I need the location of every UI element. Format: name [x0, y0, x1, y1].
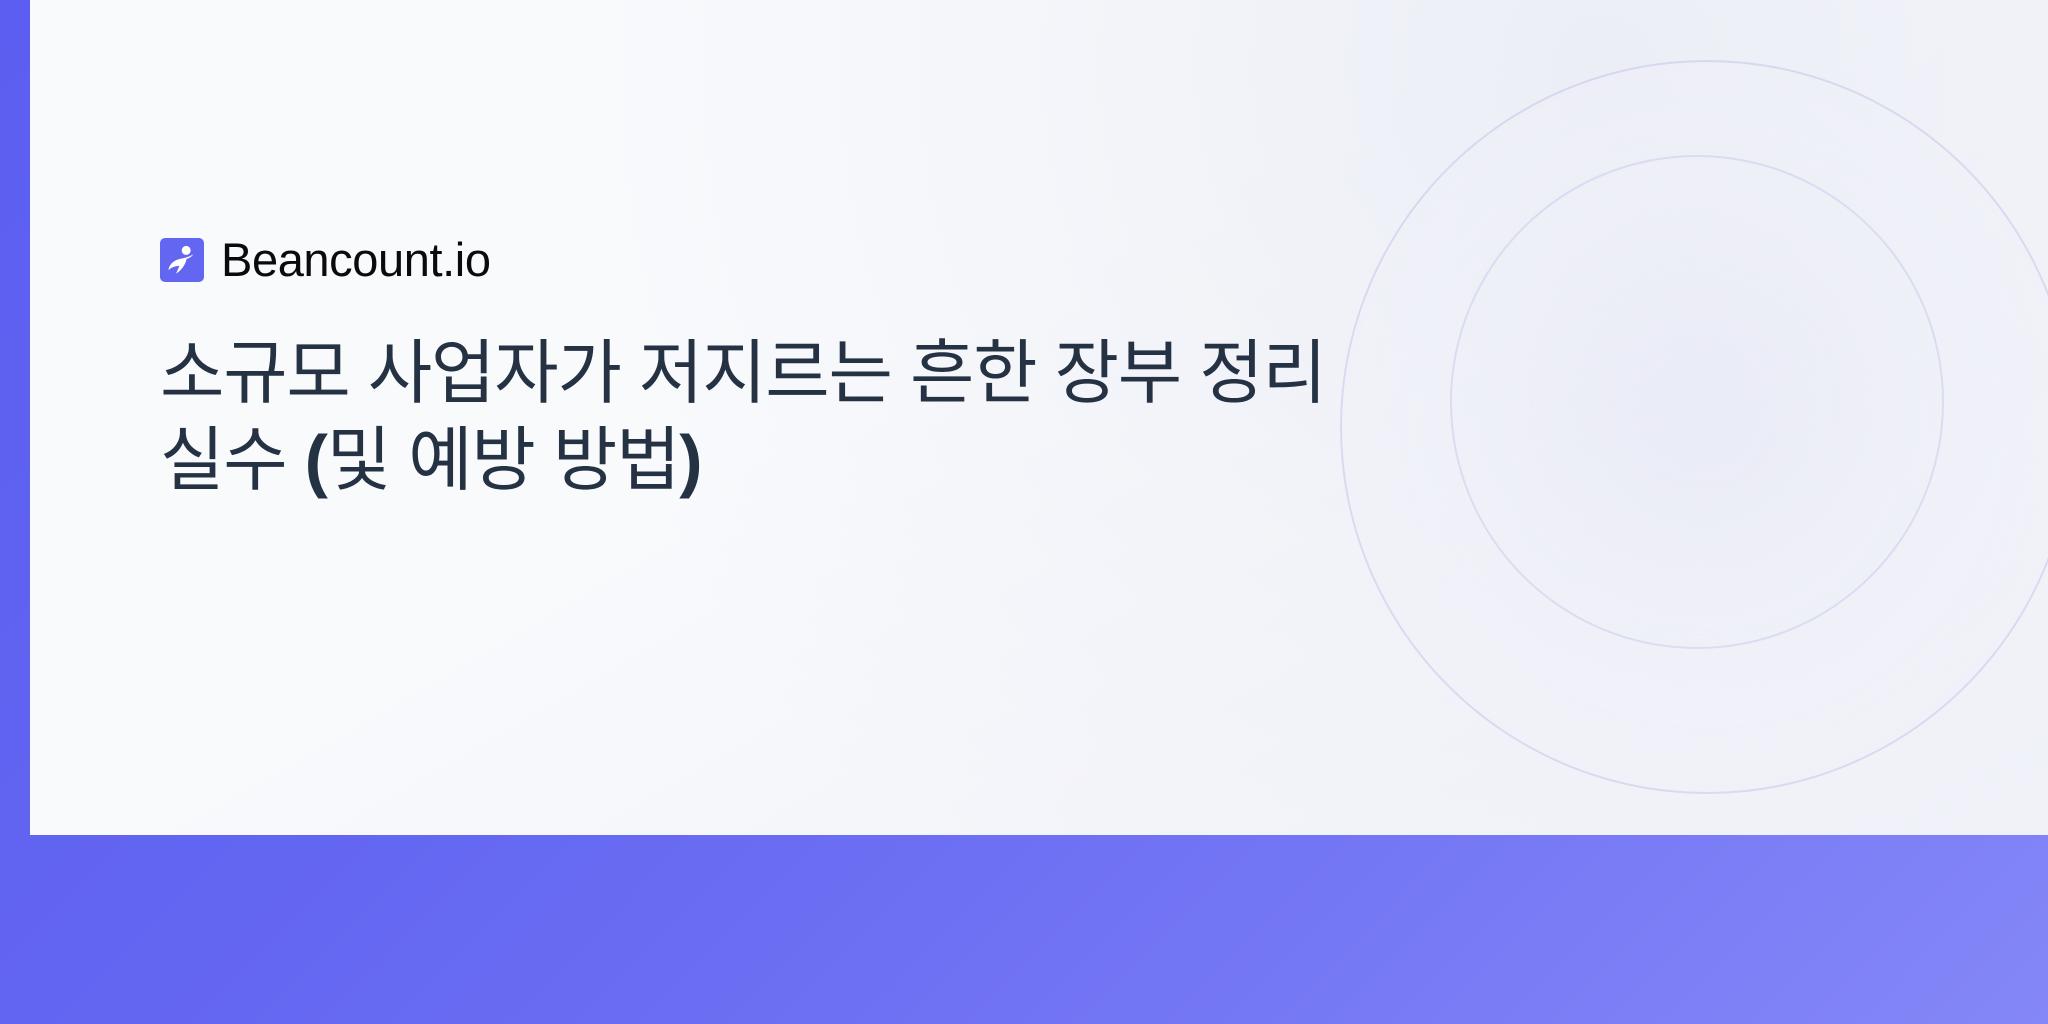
headline-paren-close: )	[679, 421, 701, 499]
headline-line-2-regular: 실수	[160, 421, 305, 499]
headline-paren-open: (	[305, 421, 327, 499]
running-person-icon	[160, 238, 204, 282]
headline-line-2-middle: 및 예방 방법	[327, 421, 680, 499]
og-image-canvas: Beancount.io 소규모 사업자가 저지르는 흔한 장부 정리실수 (및…	[0, 0, 2048, 1024]
brand-name: Beancount.io	[221, 236, 491, 283]
content-card: Beancount.io 소규모 사업자가 저지르는 흔한 장부 정리실수 (및…	[30, 0, 2048, 835]
page-title: 소규모 사업자가 저지르는 흔한 장부 정리실수 (및 예방 방법)	[160, 330, 1500, 504]
brand-lockup: Beancount.io	[160, 236, 1720, 283]
headline-line-1: 소규모 사업자가 저지르는 흔한 장부 정리	[160, 334, 1326, 412]
card-content: Beancount.io 소규모 사업자가 저지르는 흔한 장부 정리실수 (및…	[160, 236, 1720, 550]
